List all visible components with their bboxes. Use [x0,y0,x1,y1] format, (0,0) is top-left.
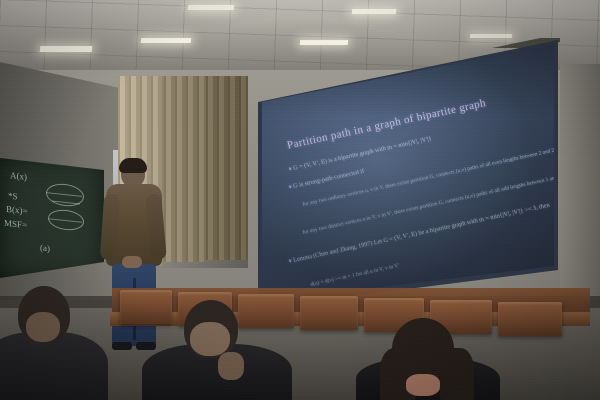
student-right-hair-side [440,348,474,400]
student-center-hand [218,352,244,380]
ceiling-light [40,46,93,52]
student-center [160,300,290,400]
presenter-hands [122,256,142,268]
ceiling-light [352,9,397,14]
right-wall-column [560,64,600,314]
blackboard: A(x) *S B(x)= MSF= (a) [0,158,107,278]
bench-seat [300,296,358,330]
student-right-neck [406,374,440,396]
ceiling-light [300,40,349,45]
chalk-text: *S [8,191,18,202]
chalk-text: (a) [40,243,50,254]
student-center-face [190,322,230,356]
student-left [0,286,116,400]
ceiling-light [141,38,192,43]
chalk-text: B(x)= [6,205,28,217]
ceiling-light [470,34,512,38]
bench-seat [498,302,562,336]
glasses-icon [122,169,144,175]
chalk-text: MSF= [4,219,27,231]
classroom-photo: A(x) *S B(x)= MSF= (a) Partition path in… [0,0,600,400]
ceiling-light [188,5,235,10]
student-right [366,318,496,400]
chalk-text: A(x) [10,171,27,183]
student-left-face [26,312,60,342]
